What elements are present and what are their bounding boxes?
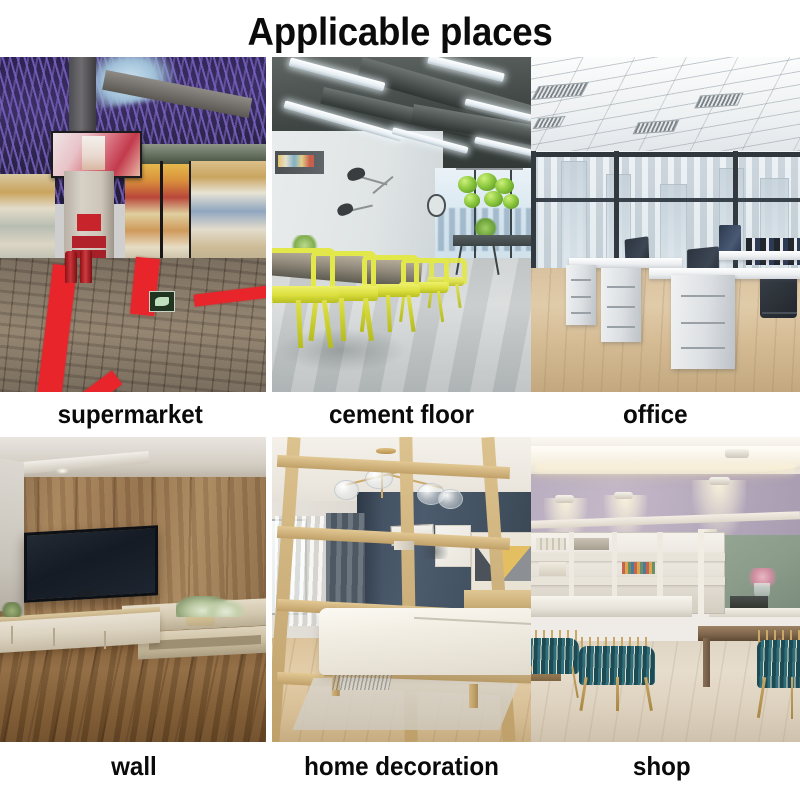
chair-leg bbox=[272, 300, 273, 349]
pendant-lamp-2 bbox=[477, 173, 498, 191]
caption-home-decoration: home decoration bbox=[281, 742, 522, 790]
pedestal-drawers-2 bbox=[601, 268, 641, 342]
grid-cell-shop[interactable]: 魏 姜 bbox=[531, 437, 800, 790]
shelf-item bbox=[394, 541, 415, 550]
caption-office: office bbox=[530, 392, 780, 437]
chair-leg bbox=[339, 298, 346, 342]
pedestal-drawers-1 bbox=[566, 265, 596, 325]
teal-chair-3 bbox=[757, 605, 800, 709]
pedestal-drawers-3 bbox=[671, 275, 736, 369]
window-frame-vertical-1 bbox=[614, 151, 619, 272]
window-frame-top bbox=[531, 152, 800, 157]
grid-cell-office[interactable]: office bbox=[531, 57, 800, 437]
pendant-track bbox=[456, 168, 523, 170]
page-title: Applicable places bbox=[24, 11, 776, 55]
shelf-contents bbox=[574, 538, 609, 550]
shelf-books bbox=[622, 562, 654, 574]
chair-leg bbox=[455, 284, 461, 308]
product-infographic: Applicable places bbox=[0, 0, 800, 800]
drawer-line bbox=[571, 279, 591, 281]
flower-arrangement-2 bbox=[207, 599, 244, 617]
drawer-line bbox=[607, 286, 634, 288]
caption-supermarket: supermarket bbox=[7, 392, 254, 437]
shelf-boxes bbox=[539, 562, 566, 576]
chair-leg bbox=[363, 298, 374, 342]
window-frame-vertical-3 bbox=[531, 151, 536, 272]
chair-leg bbox=[406, 295, 415, 332]
drawer-divider-2 bbox=[53, 628, 55, 646]
building-1 bbox=[561, 161, 588, 272]
caption-shop: shop bbox=[537, 742, 787, 790]
pendant-lamp-5 bbox=[484, 191, 502, 207]
pillar-sign-banner bbox=[72, 236, 107, 247]
chair-leg bbox=[616, 677, 619, 711]
yellow-chair-1 bbox=[272, 248, 339, 349]
wall-lamp-3 bbox=[709, 477, 731, 485]
photo-home-decoration bbox=[272, 437, 531, 742]
area-rug bbox=[293, 678, 521, 730]
drawer-line bbox=[681, 347, 725, 349]
wall-lamp-2 bbox=[614, 492, 633, 499]
drawer-line bbox=[571, 296, 591, 298]
fire-extinguisher-2 bbox=[80, 250, 92, 284]
applicable-places-grid: supermarket bbox=[0, 57, 800, 790]
grid-cell-home-decoration[interactable]: home decoration bbox=[272, 437, 531, 790]
drawer-line bbox=[681, 322, 725, 324]
drawer-divider-1 bbox=[11, 626, 13, 644]
pendant-lamp-1 bbox=[458, 176, 476, 193]
ceiling-lamp bbox=[725, 449, 749, 458]
wall-lamp-1 bbox=[555, 495, 574, 503]
plant-left bbox=[0, 602, 24, 617]
chair-leg bbox=[791, 677, 794, 718]
grid-cell-supermarket[interactable]: supermarket bbox=[0, 57, 266, 437]
chair-leg bbox=[437, 291, 445, 322]
teal-chair-1 bbox=[531, 611, 579, 690]
photo-wall bbox=[0, 437, 266, 742]
side-wall bbox=[0, 458, 24, 615]
drawer-line bbox=[607, 306, 634, 308]
photo-cement-floor bbox=[272, 57, 531, 392]
drawer-line bbox=[607, 326, 634, 328]
wall-clock bbox=[427, 194, 445, 216]
photo-shop: 魏 姜 bbox=[531, 437, 800, 742]
drawer-line bbox=[571, 312, 591, 314]
table-plant-far bbox=[474, 218, 497, 235]
shelf-middle bbox=[125, 164, 189, 268]
ceiling-downlight bbox=[56, 468, 69, 474]
chair-leg bbox=[386, 295, 392, 332]
window-frame-mid bbox=[531, 198, 800, 202]
drawer-divider-3 bbox=[104, 631, 106, 649]
grid-cell-cement-floor[interactable]: cement floor bbox=[272, 57, 531, 437]
office-chair-base bbox=[762, 312, 797, 314]
chair-leg bbox=[295, 300, 303, 348]
pendant-lamp-4 bbox=[464, 193, 481, 208]
shelf-board-1 bbox=[531, 553, 725, 561]
shelf-jars bbox=[536, 538, 566, 550]
shelf-board-2 bbox=[531, 577, 725, 585]
wall-artwork bbox=[275, 151, 324, 174]
tv-mount bbox=[77, 590, 93, 598]
bed-leg-2 bbox=[469, 684, 478, 708]
chair-seat bbox=[272, 286, 339, 303]
floor-marker-sign bbox=[149, 291, 175, 311]
pillar-sign-red bbox=[77, 214, 101, 231]
grid-row-2: wall bbox=[0, 437, 800, 790]
grid-row-1: supermarket bbox=[0, 57, 800, 437]
chair-leg bbox=[322, 300, 334, 349]
caption-cement-floor: cement floor bbox=[281, 392, 522, 437]
chandelier-globe-4 bbox=[438, 489, 463, 509]
shelf-divider-4 bbox=[698, 529, 704, 614]
grid-cell-wall[interactable]: wall bbox=[0, 437, 266, 790]
teal-chair-2 bbox=[579, 617, 654, 702]
drawer-line bbox=[681, 295, 725, 297]
photo-office bbox=[531, 57, 800, 392]
cove-light-glow bbox=[536, 464, 794, 476]
photo-supermarket bbox=[0, 57, 266, 392]
caption-wall: wall bbox=[10, 742, 257, 790]
table-leg-1 bbox=[703, 638, 710, 687]
fire-extinguisher-1 bbox=[65, 251, 77, 283]
